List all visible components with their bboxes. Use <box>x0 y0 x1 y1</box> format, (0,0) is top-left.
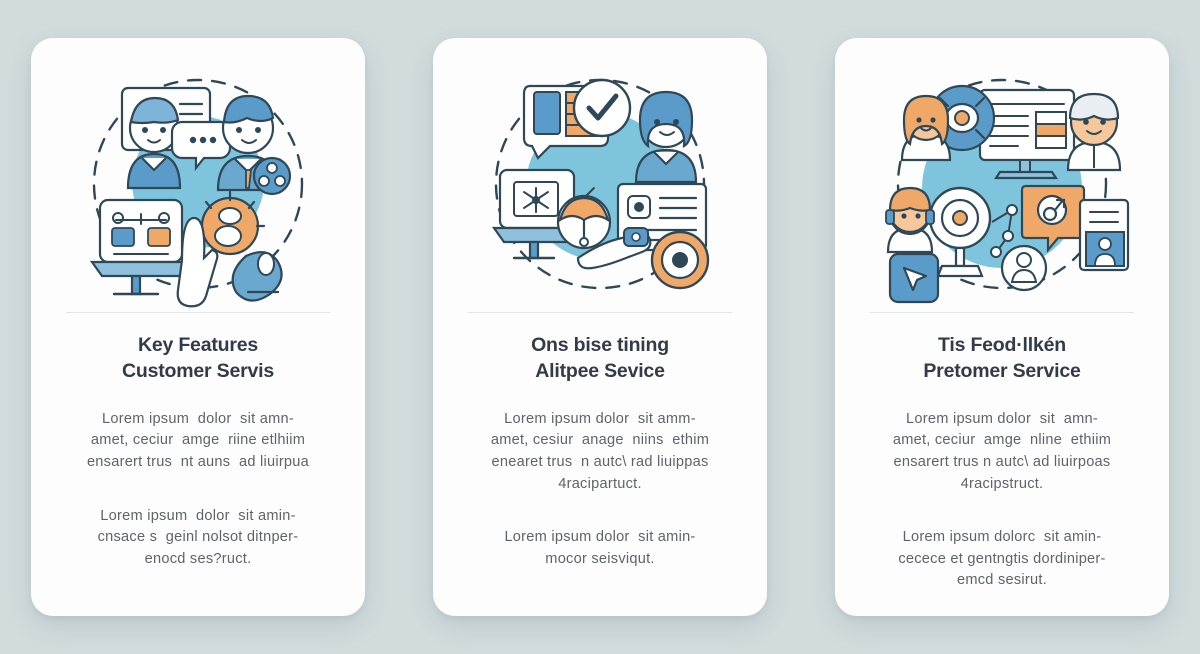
card-title-line-1: Ons bise tining <box>457 333 743 359</box>
paragraph-line: Lorem ipsum dolor sit amm- <box>460 409 740 431</box>
card-paragraph-2: Lorem ipsum dolorc sit amin- cecece et g… <box>862 527 1142 592</box>
paragraph-line: Lorem ipsum dolor sit amn- <box>862 409 1142 431</box>
card-paragraph-1: Lorem ipsum dolor sit amm- amet, cesiur … <box>460 409 740 495</box>
card-paragraph-1: Lorem ipsum dolor sit amn- amet, ceciur … <box>58 409 338 474</box>
card-title-line-2: Pretomer Service <box>859 359 1145 385</box>
card-title-line-2: Alitpee Sevice <box>457 359 743 385</box>
paragraph-line: enearet trus n autc\ rad liuippas <box>460 452 740 474</box>
paragraph-line: cnsace s geinl nolsot ditnper- <box>58 527 338 549</box>
paragraph-line: ensarert trus n autc\ ad liuirpoas <box>862 452 1142 474</box>
paragraph-line: amet, cesiur anage niins ethim <box>460 430 740 452</box>
card-title-line-2: Customer Servis <box>55 359 341 385</box>
paragraph-line: mocor seisviqut. <box>460 549 740 571</box>
paragraph-line: emcd sesirut. <box>862 570 1142 592</box>
card-divider <box>66 312 330 313</box>
user-network-illustration <box>874 60 1130 310</box>
paragraph-line: Lorem ipsum dolor sit amin- <box>58 506 338 528</box>
feature-card-2[interactable]: Ons bise tining Alitpee Sevice Lorem ips… <box>433 38 767 616</box>
card-title-line-1: Tis Feod·llkén <box>859 333 1145 359</box>
paragraph-line: cecece et gentngtis dordiniper- <box>862 549 1142 571</box>
paragraph-line: amet, ceciur amge nline ethiim <box>862 430 1142 452</box>
card-divider <box>468 312 732 313</box>
card-title-line-1: Key Features <box>55 333 341 359</box>
card-title: Key Features Customer Servis <box>55 333 341 385</box>
paragraph-line: 4racipartuct. <box>460 474 740 496</box>
paragraph-line: amet, ceciur amge riine etlhiim <box>58 430 338 452</box>
card-paragraph-1: Lorem ipsum dolor sit amn- amet, ceciur … <box>862 409 1142 495</box>
card-paragraph-2: Lorem ipsum dolor sit amin- mocor seisvi… <box>460 527 740 570</box>
card-title: Ons bise tining Alitpee Sevice <box>457 333 743 385</box>
paragraph-line: ensarert trus nt auns ad liuirpua <box>58 452 338 474</box>
paragraph-line: enocd ses?ruct. <box>58 549 338 571</box>
card-divider <box>870 312 1134 313</box>
paragraph-line: Lorem ipsum dolorc sit amin- <box>862 527 1142 549</box>
feature-card-3[interactable]: Tis Feod·llkén Pretomer Service Lorem ip… <box>835 38 1169 616</box>
cards-board: Key Features Customer Servis Lorem ipsum… <box>0 0 1200 654</box>
quality-assurance-illustration <box>472 60 728 310</box>
paragraph-line: Lorem ipsum dolor sit amn- <box>58 409 338 431</box>
paragraph-line: 4racipstruct. <box>862 474 1142 496</box>
card-title: Tis Feod·llkén Pretomer Service <box>859 333 1145 385</box>
feature-card-1[interactable]: Key Features Customer Servis Lorem ipsum… <box>31 38 365 616</box>
paragraph-line: Lorem ipsum dolor sit amin- <box>460 527 740 549</box>
card-paragraph-2: Lorem ipsum dolor sit amin- cnsace s gei… <box>58 506 338 571</box>
customer-service-team-illustration <box>70 60 326 310</box>
